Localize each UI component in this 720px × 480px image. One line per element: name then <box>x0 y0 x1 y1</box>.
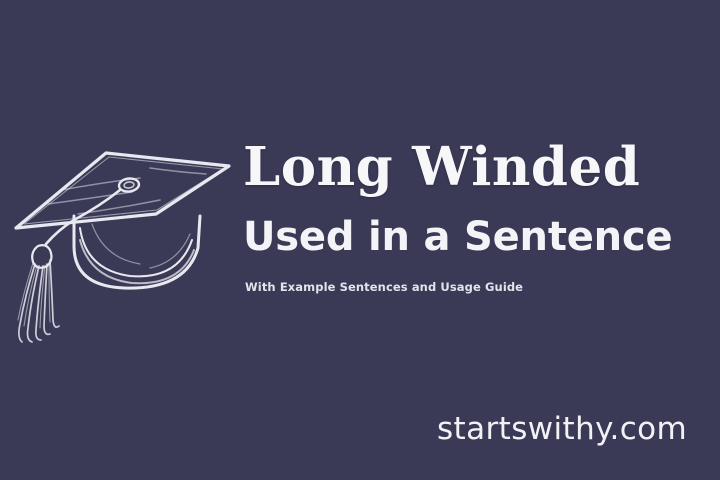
headline-block: Long Winded Used in a Sentence With Exam… <box>243 138 713 295</box>
graduation-cap-icon <box>0 128 248 360</box>
page-tagline: With Example Sentences and Usage Guide <box>245 279 713 295</box>
site-brand: startswithy.com <box>437 410 687 448</box>
poster-canvas: Long Winded Used in a Sentence With Exam… <box>0 0 720 480</box>
page-title: Long Winded <box>243 138 713 196</box>
page-subtitle: Used in a Sentence <box>243 214 713 260</box>
